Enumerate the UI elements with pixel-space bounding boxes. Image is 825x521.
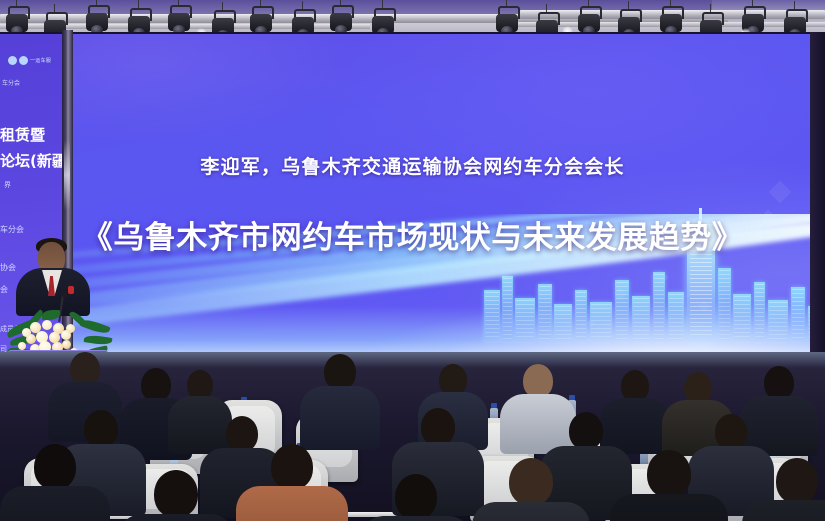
head (84, 410, 118, 448)
head (647, 450, 691, 498)
head (776, 458, 818, 504)
torso (500, 394, 576, 454)
head (154, 470, 198, 518)
flower (66, 324, 75, 333)
torso (742, 500, 825, 521)
banner-line-1: 租赁暨 (0, 124, 45, 145)
head (141, 368, 171, 402)
conference-photo: 李迎军，乌鲁木齐交通运输协会网约车分会会长 《乌鲁木齐市网约车市场现状与未来发展… (0, 0, 825, 521)
screen-speaker-line: 李迎军，乌鲁木齐交通运输协会网约车分会会长 (0, 152, 825, 179)
head (764, 366, 794, 400)
audience-area (0, 352, 825, 521)
head (34, 444, 76, 490)
stage-light-fixture (330, 5, 352, 35)
head (226, 416, 258, 452)
speaker-lapel-pin-icon (68, 286, 74, 294)
torso (360, 516, 472, 521)
head (523, 364, 553, 398)
banner-line-3: 界 (4, 180, 11, 190)
head (569, 412, 603, 450)
flower (42, 320, 52, 330)
head (395, 474, 437, 520)
head (271, 444, 313, 490)
flower (22, 328, 31, 337)
torso (236, 486, 348, 521)
banner-logo-icon: 一运车服 (8, 56, 51, 65)
banner-line-0: 车分会 (2, 78, 20, 87)
flower (62, 340, 71, 349)
flower (18, 342, 26, 350)
head (421, 408, 455, 446)
led-stage-screen: 李迎军，乌鲁木齐交通运输协会网约车分会会长 《乌鲁木齐市网约车市场现状与未来发展… (0, 34, 825, 364)
torso (472, 502, 590, 521)
head (509, 458, 553, 506)
screen-frame-right (810, 32, 825, 372)
foliage (42, 310, 60, 320)
torso (118, 514, 234, 521)
foliage (84, 334, 113, 346)
torso (610, 494, 728, 521)
banner-line-4: 车分会 (0, 224, 24, 235)
stage-light-fixture (168, 5, 190, 35)
stage-floor-glow (0, 352, 825, 368)
banner-logo-text: 一运车服 (30, 57, 51, 64)
head (324, 354, 356, 390)
microphone-icon (62, 292, 67, 298)
torso (0, 486, 110, 521)
head (715, 414, 747, 450)
torso (300, 386, 380, 450)
screen-presentation-title: 《乌鲁木齐市网约车市场现状与未来发展趋势》 (0, 212, 825, 257)
head (70, 352, 100, 386)
banner-line-2: 论坛(新疆) (0, 150, 62, 171)
stage-light-fixture (86, 5, 108, 35)
torso (168, 396, 232, 454)
